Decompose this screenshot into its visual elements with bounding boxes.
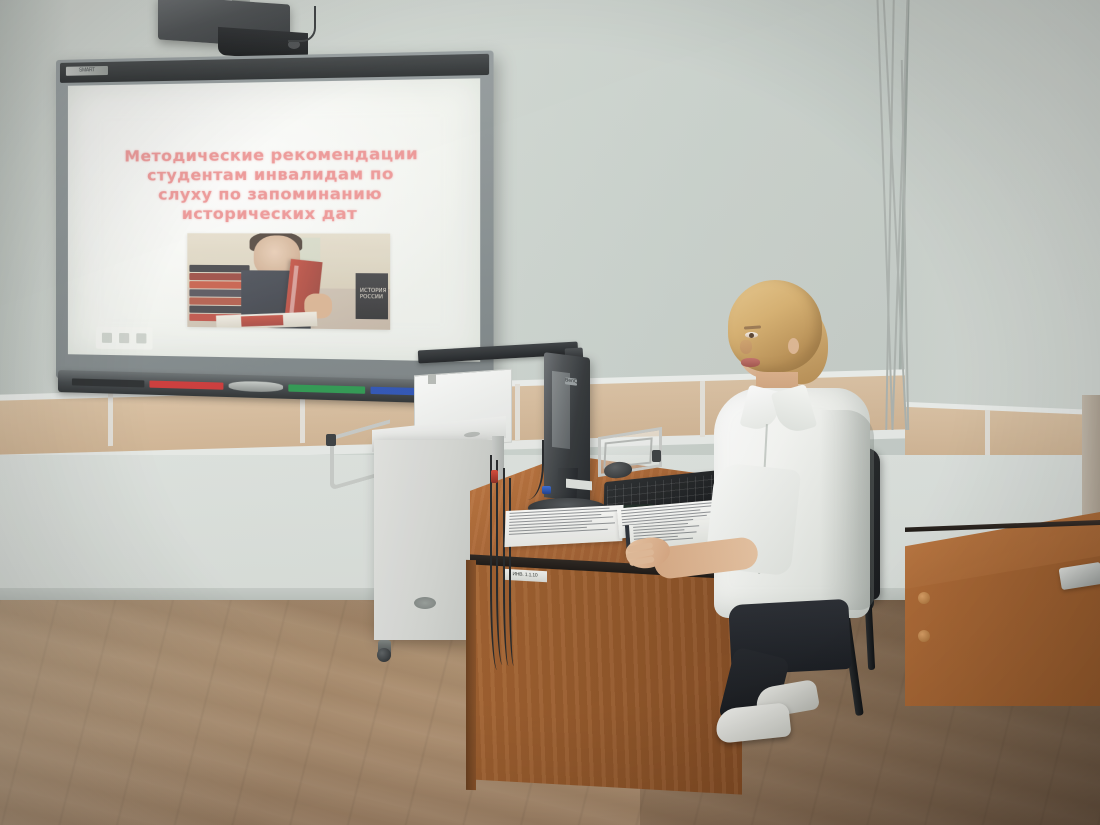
mouth xyxy=(741,358,760,367)
slide-title: Методические рекомендации студентам инва… xyxy=(74,144,474,224)
pen-tool-icon[interactable] xyxy=(119,333,129,343)
desk-left-leg xyxy=(466,560,476,790)
slide-title-line-1: Методические рекомендации xyxy=(74,144,474,167)
prev-slide-icon[interactable] xyxy=(102,333,112,343)
secondary-desk-knob-lower[interactable] xyxy=(918,630,930,642)
next-slide-icon[interactable] xyxy=(137,333,147,343)
pupil xyxy=(749,333,754,338)
whiteboard-brand-label: SMART xyxy=(66,66,108,76)
marker-green[interactable] xyxy=(288,384,365,393)
slide-title-line-3: слуху по запоминанию xyxy=(74,184,474,205)
printed-handout-left[interactable] xyxy=(504,505,623,547)
whiteboard-eraser[interactable] xyxy=(229,381,283,393)
whiteboard-clip xyxy=(428,374,436,384)
presentation-toolbar[interactable] xyxy=(96,327,153,350)
cart-handle-cap xyxy=(326,434,336,446)
monitor-brand-label: BenQ xyxy=(565,377,577,385)
slide-title-line-4: исторических дат xyxy=(74,204,474,224)
slide-photo-book-label: ИСТОРИЯ РОССИИ xyxy=(360,288,388,301)
document-holder-knob xyxy=(652,450,661,462)
slide-photo-russia-history-book: ИСТОРИЯ РОССИИ xyxy=(356,273,388,319)
slide-photo: ИСТОРИЯ РОССИИ xyxy=(187,233,390,330)
cart-wheel-left xyxy=(377,648,391,662)
presenter-person xyxy=(700,280,900,760)
shoulder-shading xyxy=(820,410,874,610)
hair xyxy=(728,280,822,372)
marker-black[interactable] xyxy=(72,378,144,387)
wainscot-divider xyxy=(108,390,113,446)
wainscot-divider xyxy=(985,410,990,460)
slide-photo-flat-book-red xyxy=(241,315,283,327)
rca-connector-red xyxy=(491,470,498,483)
nose xyxy=(740,340,752,354)
floor-highlight xyxy=(0,600,420,825)
desk-cable-4 xyxy=(509,478,521,666)
slide-title-line-2: студентам инвалидам по xyxy=(74,164,474,186)
vga-connector-blue xyxy=(542,486,551,494)
projector-cable xyxy=(288,6,316,42)
eye xyxy=(745,332,758,338)
interactive-whiteboard[interactable]: SMART Методические рекомендации студента… xyxy=(56,51,494,388)
secondary-desk-knob-upper[interactable] xyxy=(918,592,930,604)
cart-vent xyxy=(414,597,436,609)
classroom-photo-scene: SMART Методические рекомендации студента… xyxy=(0,0,1100,825)
ear xyxy=(788,338,799,354)
projected-slide-screen: Методические рекомендации студентам инва… xyxy=(68,78,480,362)
marker-red[interactable] xyxy=(149,380,223,389)
wainscot-divider xyxy=(515,384,520,440)
